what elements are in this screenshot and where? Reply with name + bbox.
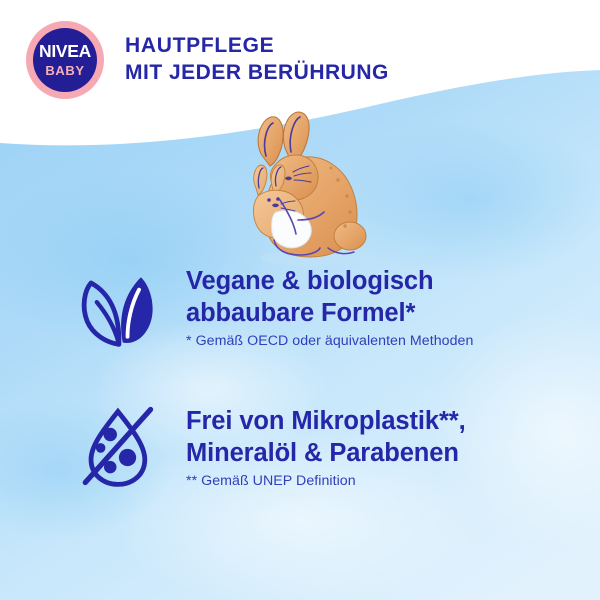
logo-sub-brand-name: BABY (45, 64, 84, 77)
claim-item: Vegane & biologisch abbaubare Formel* * … (0, 258, 600, 354)
logo-circle: NIVEA BABY (33, 28, 97, 92)
claim-title-line2: abbaubare Formel* (186, 297, 473, 329)
claims-list: Vegane & biologisch abbaubare Formel* * … (0, 258, 600, 538)
no-microplastic-droplet-icon (68, 398, 164, 494)
logo-brand-name: NIVEA (39, 43, 91, 61)
claim-footnote: * Gemäß OECD oder äquivalenten Methoden (186, 333, 473, 349)
header-tagline: HAUTPFLEGE MIT JEDER BERÜHRUNG (125, 33, 389, 87)
claim-item: Frei von Mikroplastik**, Mineralöl & Par… (0, 398, 600, 494)
header-tagline-line2: MIT JEDER BERÜHRUNG (125, 60, 389, 87)
claim-footnote: ** Gemäß UNEP Definition (186, 473, 466, 489)
rabbit-illustration (228, 108, 398, 268)
leaf-icon (68, 258, 164, 354)
claim-title: Frei von Mikroplastik**, Mineralöl & Par… (186, 405, 466, 469)
poster-header: NIVEA BABY HAUTPFLEGE MIT JEDER BERÜHRUN… (0, 0, 600, 120)
claim-title-line1: Frei von Mikroplastik**, (186, 405, 466, 437)
nivea-baby-promo-poster: NIVEA BABY HAUTPFLEGE MIT JEDER BERÜHRUN… (0, 0, 600, 600)
header-tagline-line1: HAUTPFLEGE (125, 33, 389, 60)
nivea-baby-logo: NIVEA BABY (26, 21, 104, 99)
claim-title-line1: Vegane & biologisch (186, 265, 473, 297)
claim-text-block: Vegane & biologisch abbaubare Formel* * … (186, 258, 473, 349)
claim-title-line2: Mineralöl & Parabenen (186, 437, 466, 469)
claim-title: Vegane & biologisch abbaubare Formel* (186, 265, 473, 329)
claim-text-block: Frei von Mikroplastik**, Mineralöl & Par… (186, 398, 466, 489)
